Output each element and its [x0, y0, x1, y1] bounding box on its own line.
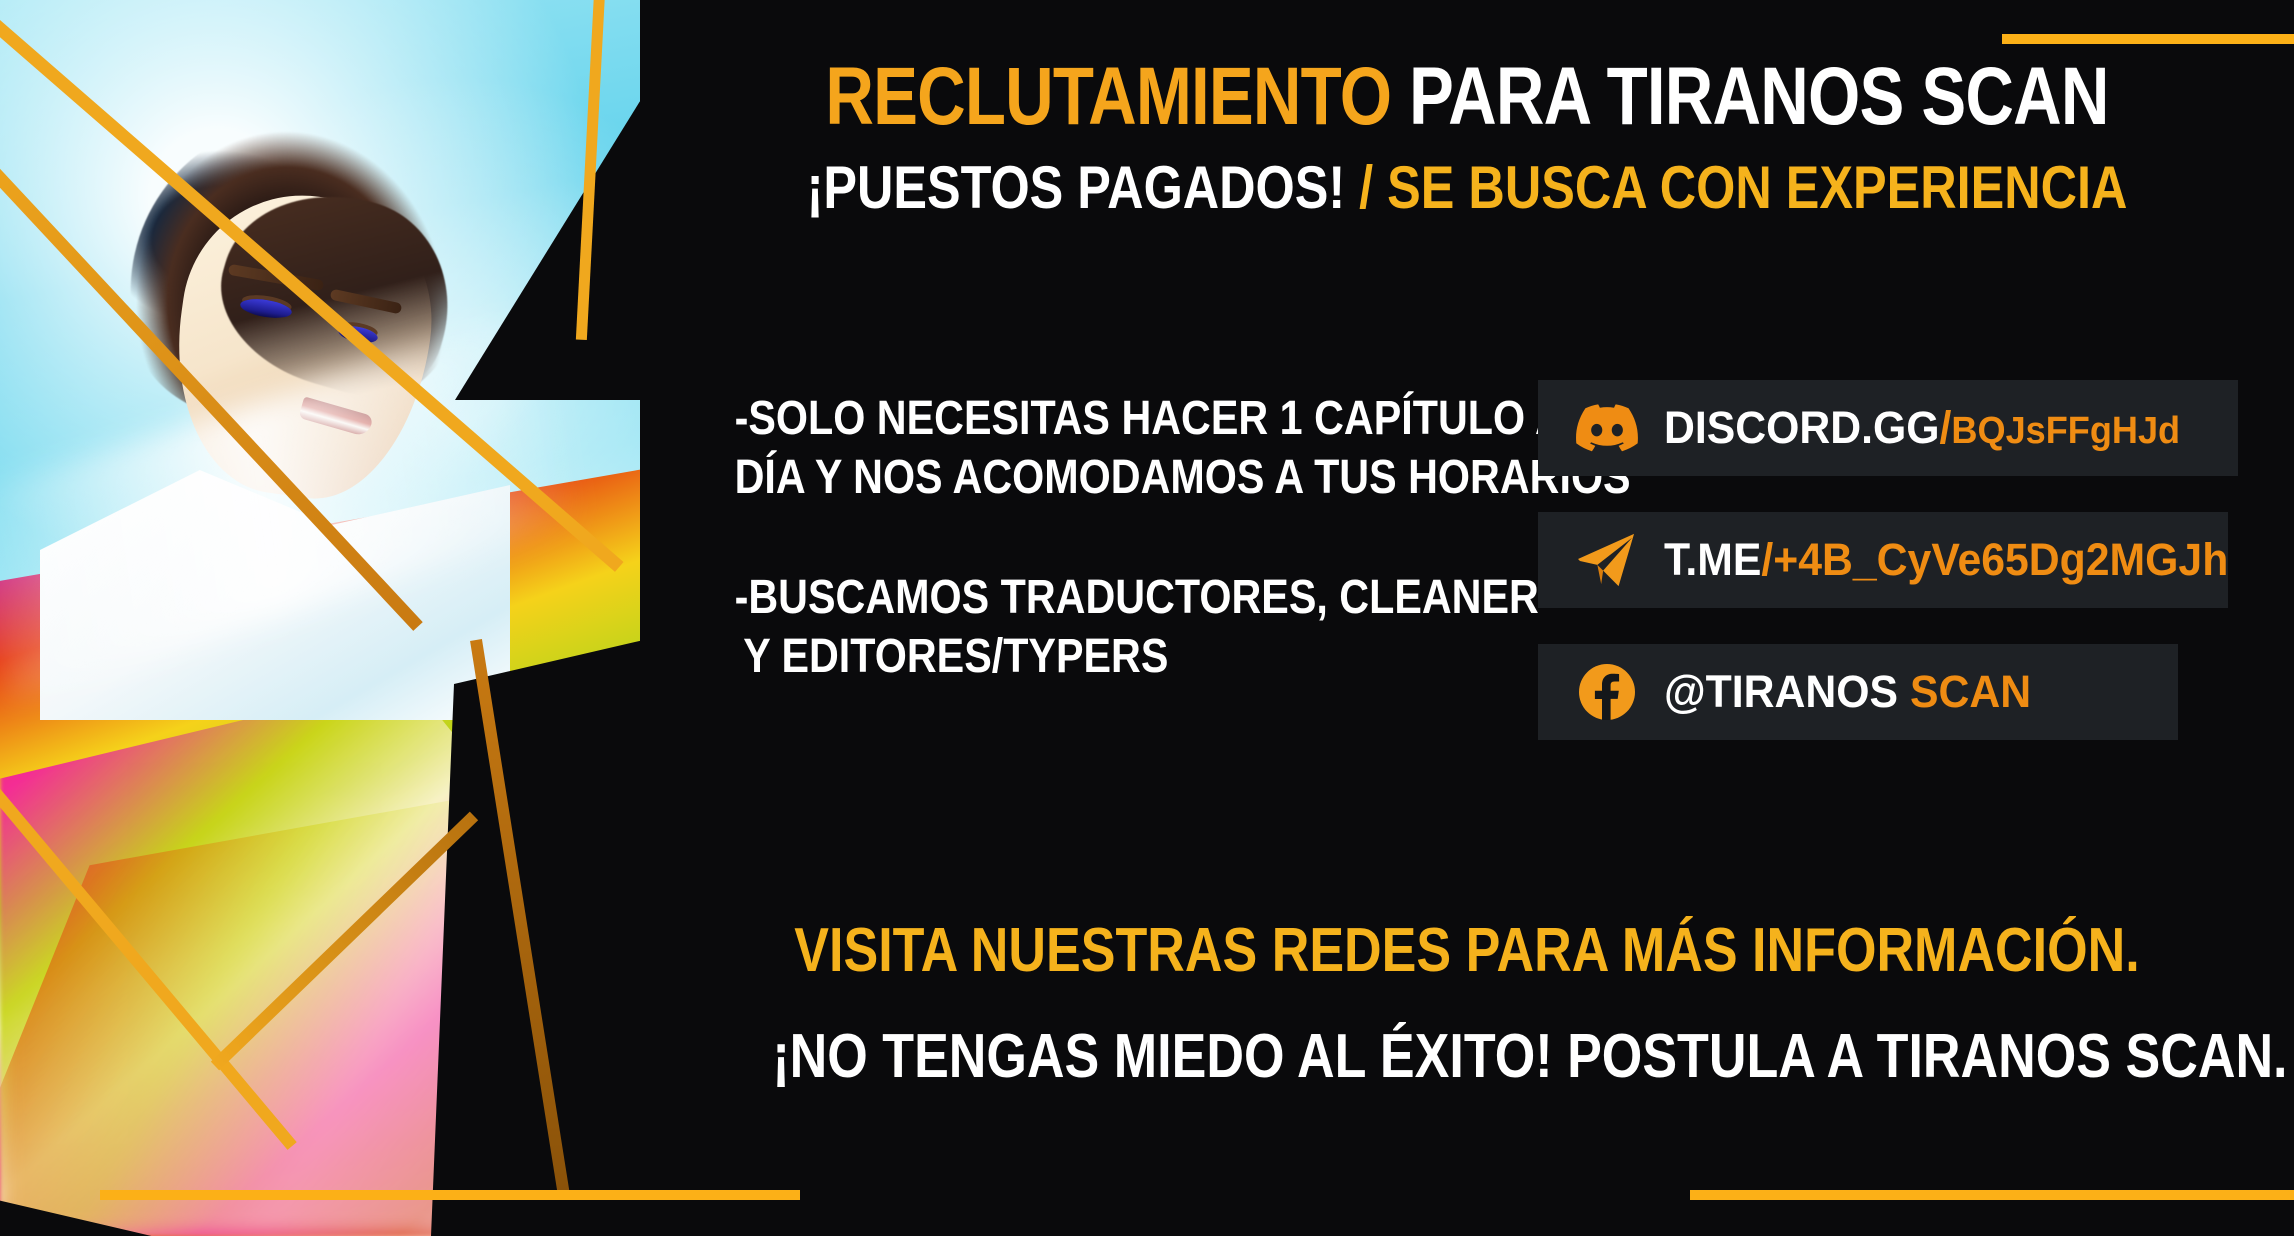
content-panel: RECLUTAMIENTO PARA TIRANOS SCAN ¡PUESTOS… — [640, 0, 2294, 1236]
facebook-handle-orange: SCAN — [1910, 666, 2031, 717]
title-orange-part: RECLUTAMIENTO — [825, 51, 1391, 142]
bullet-1-line-1: -SOLO NECESITAS HACER 1 CAPÍTULO AL — [735, 390, 1406, 449]
benefits-list: -SOLO NECESITAS HACER 1 CAPÍTULO AL DÍA … — [680, 390, 1460, 686]
discord-link-text: DISCORD.GG/BQJsFFgHJd — [1664, 402, 2180, 454]
discord-domain: DISCORD.GG — [1664, 402, 1940, 453]
telegram-invite-code: +4B_CyVe65Dg2MGJh — [1773, 534, 2228, 585]
page-subtitle: ¡PUESTOS PAGADOS! / SE BUSCA CON EXPERIE… — [772, 158, 2161, 218]
gold-rule-top — [2002, 34, 2294, 44]
page-title: RECLUTAMIENTO PARA TIRANOS SCAN — [789, 56, 2145, 138]
bullet-2-line-2: Y EDITORES/TYPERS — [735, 628, 1406, 687]
title-white-part: PARA TIRANOS SCAN — [1409, 51, 2109, 142]
telegram-separator: / — [1761, 534, 1773, 585]
facebook-handle-text: @TIRANOS SCAN — [1664, 666, 2031, 718]
telegram-domain: T.ME — [1664, 534, 1761, 585]
frame-mask-right — [430, 620, 640, 1236]
discord-invite-code: BQJsFFgHJd — [1951, 410, 2180, 452]
cta-line-2: ¡NO TENGAS MIEDO AL ÉXITO! POSTULA A TIR… — [772, 1026, 2161, 1088]
bullet-item-schedule: -SOLO NECESITAS HACER 1 CAPÍTULO AL DÍA … — [735, 390, 1406, 507]
telegram-link-text: T.ME/+4B_CyVe65Dg2MGJh — [1664, 534, 2228, 586]
recruitment-banner: RECLUTAMIENTO PARA TIRANOS SCAN ¡PUESTOS… — [0, 0, 2294, 1236]
discord-separator: / — [1940, 402, 1952, 453]
contact-facebook[interactable]: @TIRANOS SCAN — [1538, 644, 2178, 740]
subtitle-white-part: ¡PUESTOS PAGADOS! — [807, 154, 1346, 221]
gold-rule-bottom-right — [1690, 1190, 2294, 1200]
cta-line-1: VISITA NUESTRAS REDES PARA MÁS INFORMACI… — [772, 920, 2161, 982]
contact-telegram[interactable]: T.ME/+4B_CyVe65Dg2MGJh — [1538, 512, 2228, 608]
facebook-handle-white: @TIRANOS — [1664, 666, 1898, 717]
facebook-icon — [1576, 661, 1638, 723]
contact-list: DISCORD.GG/BQJsFFgHJd T.ME/+4B_CyVe65Dg2… — [1538, 380, 2238, 776]
contact-discord[interactable]: DISCORD.GG/BQJsFFgHJd — [1538, 380, 2238, 476]
telegram-icon — [1576, 529, 1638, 591]
bullet-2-line-1: -BUSCAMOS TRADUCTORES, CLEANER — [735, 569, 1406, 628]
bullet-1-line-2: DÍA Y NOS ACOMODAMOS A TUS HORARIOS — [735, 449, 1406, 508]
bullet-item-roles: -BUSCAMOS TRADUCTORES, CLEANER Y EDITORE… — [735, 569, 1406, 686]
subtitle-orange-part: / SE BUSCA CON EXPERIENCIA — [1359, 154, 2127, 221]
gold-rule-bottom-left — [100, 1190, 800, 1200]
discord-icon — [1576, 397, 1638, 459]
artwork-panel — [0, 0, 640, 1236]
